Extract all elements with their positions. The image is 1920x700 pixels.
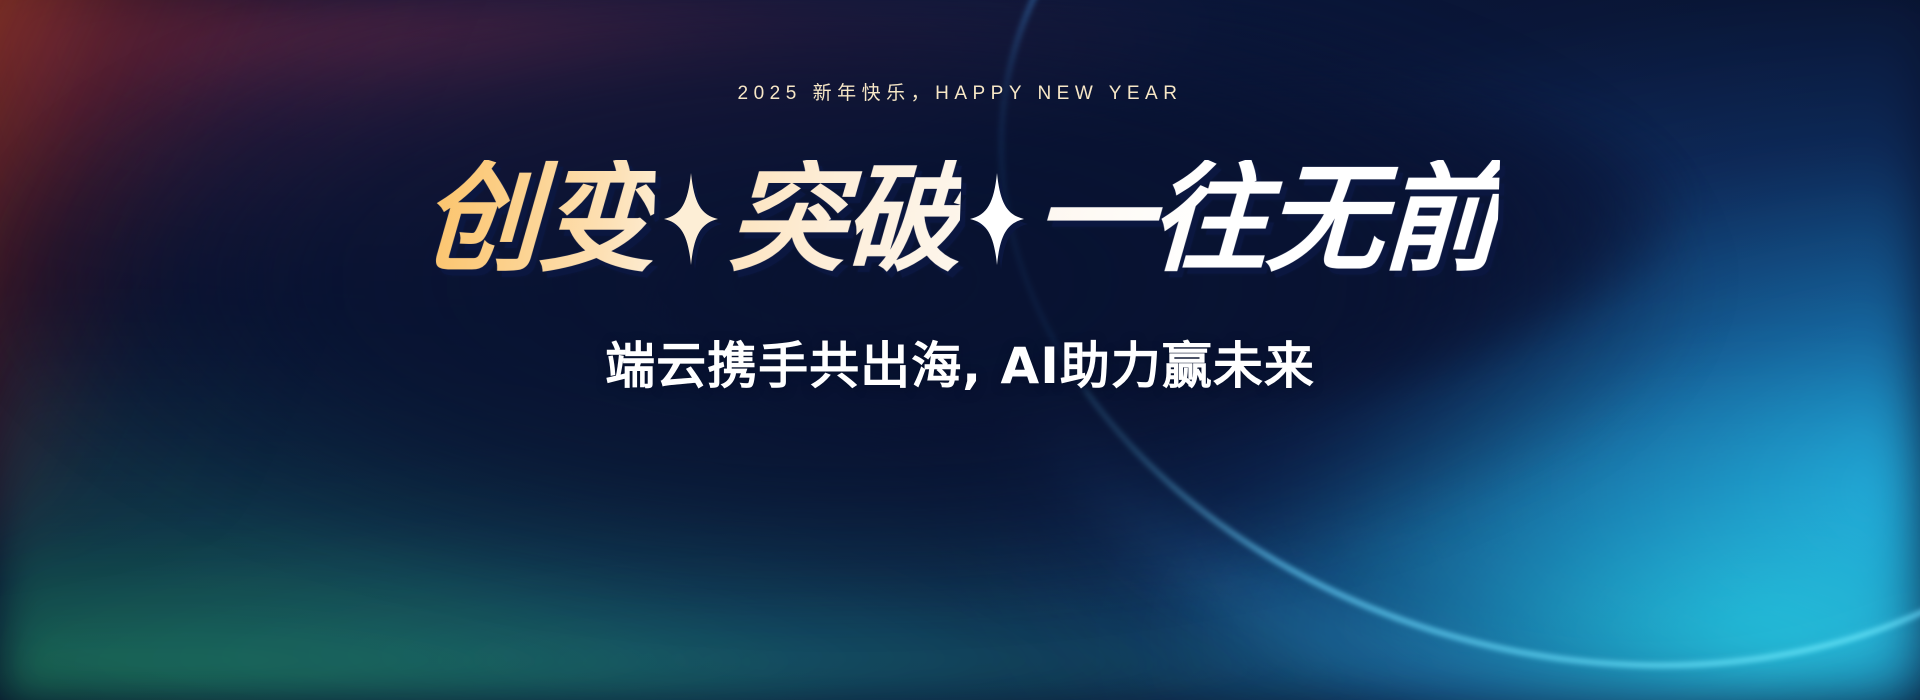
headline: 创变 突破 一往无前: [422, 160, 1498, 278]
banner-content: 2025 新年快乐，HAPPY NEW YEAR 创变 突破 一往无前 端云携手…: [0, 0, 1920, 700]
sparkle-icon: [970, 173, 1024, 265]
headline-word-3: 一往无前: [1032, 160, 1500, 278]
new-year-banner: 2025 新年快乐，HAPPY NEW YEAR 创变 突破 一往无前 端云携手…: [0, 0, 1920, 700]
eyebrow-text: 2025 新年快乐，HAPPY NEW YEAR: [738, 78, 1183, 105]
subtitle-text: 端云携手共出海, AI助力赢未来: [605, 326, 1315, 398]
headline-word-2: 突破: [726, 160, 962, 278]
headline-word-1: 创变: [420, 160, 656, 278]
sparkle-icon: [664, 173, 718, 265]
